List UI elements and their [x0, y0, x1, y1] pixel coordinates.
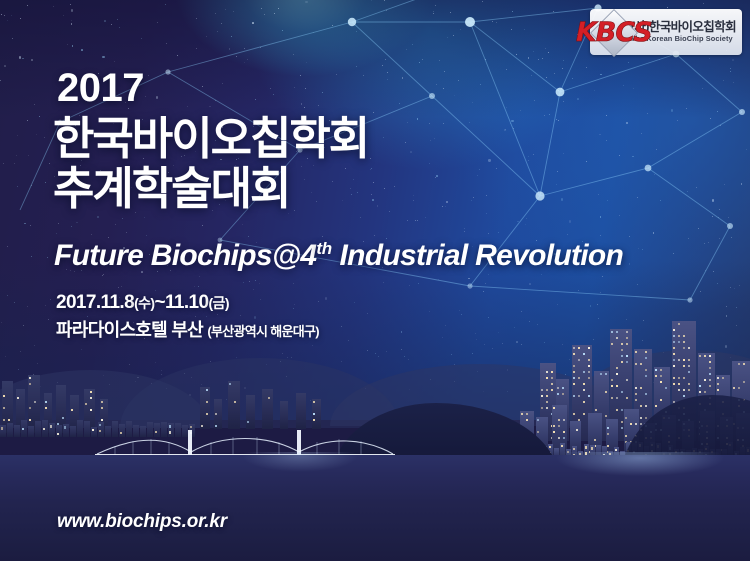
event-date: 2017.11.8(수)~11.10(금) [56, 293, 229, 312]
conference-poster: KBCS (사)한국바이오칩학회 The Korean BioChip Soci… [0, 0, 750, 561]
website-url[interactable]: www.biochips.or.kr [57, 511, 227, 533]
venue-location: (부산광역시 해운대구) [207, 324, 319, 339]
date-end-weekday: (금) [208, 295, 228, 311]
event-venue: 파라다이스호텔 부산 (부산광역시 해운대구) [56, 321, 319, 339]
poster-subtitle-english: Future Biochips@4th Industrial Revolutio… [54, 240, 623, 271]
poster-year: 2017 [57, 68, 144, 108]
date-start: 2017.11.8 [56, 292, 134, 313]
subtitle-superscript: th [316, 239, 331, 258]
date-start-weekday: (수) [134, 295, 154, 311]
date-end: ~11.10 [154, 292, 208, 313]
diamond-icon: KBCS [593, 12, 633, 52]
logo-mark-text: KBCS [576, 19, 652, 46]
subtitle-tail: Industrial Revolution [332, 239, 623, 272]
poster-title-korean: 한국바이오칩학회 추계학술대회 [53, 114, 368, 215]
kbcs-logo[interactable]: KBCS (사)한국바이오칩학회 The Korean BioChip Soci… [590, 9, 742, 55]
subtitle-main: Future Biochips@4 [54, 239, 316, 272]
venue-name: 파라다이스호텔 부산 [56, 320, 203, 340]
